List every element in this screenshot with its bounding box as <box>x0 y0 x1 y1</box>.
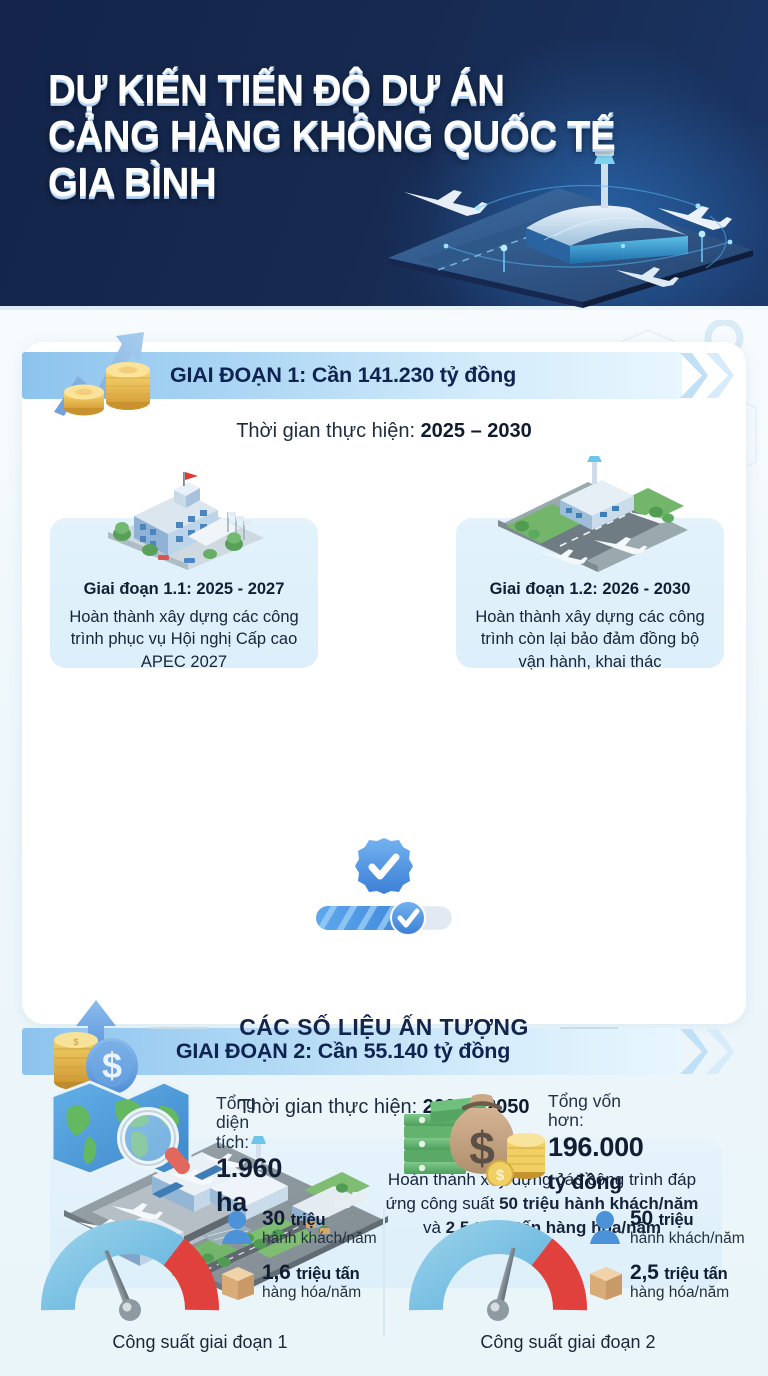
title-line-2: CẢNG HÀNG KHÔNG QUỐC TẾ <box>48 112 574 158</box>
capacity1-cargo-value: 1,6 triệu tấn <box>262 1262 392 1284</box>
money-bag-cash-icon: $ $ <box>400 1068 550 1191</box>
capacity2-passenger-unit: triệu <box>659 1211 694 1229</box>
capacity1-passenger-value: 30 triệu <box>262 1208 382 1230</box>
capacity1-cargo-label: hàng hóa/năm <box>262 1284 392 1302</box>
page-title: DỰ KIẾN TIẾN ĐỘ DỰ ÁN CẢNG HÀNG KHÔNG QU… <box>48 66 574 205</box>
package-box-icon <box>220 1264 256 1305</box>
speedometer-gauge-icon <box>40 1210 220 1327</box>
capacity1-cargo-number: 1,6 <box>262 1261 291 1284</box>
capacity2-cargo-number: 2,5 <box>630 1261 659 1284</box>
capacity-block-phase1: 30 triệu hành khách/năm 1,6 triệu tấn hà… <box>20 1204 380 1364</box>
growth-arrow-coins-icon <box>44 320 174 425</box>
person-icon <box>588 1210 622 1251</box>
title-line-1: DỰ KIẾN TIẾN ĐỘ DỰ ÁN <box>48 66 574 112</box>
speedometer-gauge-icon <box>408 1210 588 1327</box>
capacity1-passenger-unit: triệu <box>291 1211 326 1229</box>
stat-capital-unit: tỷ đồng <box>548 1171 622 1194</box>
capacity1-passenger-label: hành khách/năm <box>262 1230 382 1248</box>
stats-rule-left <box>150 1027 208 1029</box>
package-box-icon <box>588 1264 624 1305</box>
phase1-timeline-prefix: Thời gian thực hiện: <box>236 420 420 442</box>
capacity-block-phase2: 50 triệu hành khách/năm 2,5 triệu tấn hà… <box>388 1204 748 1364</box>
phase1-card-2-title: Giai đoạn 1.2: 2026 - 2030 <box>456 580 724 599</box>
convention-center-building-icon <box>88 460 280 575</box>
capacity1-caption: Công suất giai đoạn 1 <box>20 1332 380 1353</box>
capacity1-passenger-number: 30 <box>262 1207 285 1230</box>
stat-capital-value: 196.000 tỷ đồng <box>548 1131 644 1199</box>
capacity2-cargo-value: 2,5 triệu tấn <box>630 1262 760 1284</box>
capacity2-cargo-label: hàng hóa/năm <box>630 1284 760 1302</box>
capacity2-caption: Công suất giai đoạn 2 <box>388 1332 748 1353</box>
svg-text:$: $ <box>496 1167 505 1184</box>
stat-area-caption: Tổng diện tích: <box>216 1094 282 1152</box>
capacity2-passenger-number: 50 <box>630 1207 653 1230</box>
stats-heading: CÁC SỐ LIỆU ẤN TƯỢNG <box>0 1014 768 1041</box>
stat-capital-number: 196.000 <box>548 1132 644 1162</box>
stats-rule-right <box>560 1027 618 1029</box>
airport-runway-isometric-icon <box>488 456 696 577</box>
header-banner: DỰ KIẾN TIẾN ĐỘ DỰ ÁN CẢNG HÀNG KHÔNG QU… <box>0 0 768 310</box>
phase1-card-2-desc: Hoàn thành xây dựng các công trình còn l… <box>456 606 724 673</box>
stat-capital-caption: Tổng vốn hơn: <box>548 1092 644 1131</box>
capacity1-cargo-unit: triệu tấn <box>296 1265 359 1283</box>
phase1-timeline-value: 2025 – 2030 <box>421 420 532 442</box>
capacity2-passenger-label: hành khách/năm <box>630 1230 750 1248</box>
phase1-card-1-title: Giai đoạn 1.1: 2025 - 2027 <box>50 580 318 599</box>
capacity2-cargo-unit: triệu tấn <box>664 1265 727 1283</box>
title-line-3: GIA BÌNH <box>48 159 574 205</box>
phase1-connector <box>311 835 457 940</box>
phase1-card-1-desc: Hoàn thành xây dựng các công trình phục … <box>50 606 318 673</box>
capacity2-passenger-value: 50 triệu <box>630 1208 750 1230</box>
person-icon <box>220 1210 254 1251</box>
world-map-magnifier-icon <box>44 1074 196 1191</box>
phase1-timeline: Thời gian thực hiện: 2025 – 2030 <box>0 420 768 443</box>
